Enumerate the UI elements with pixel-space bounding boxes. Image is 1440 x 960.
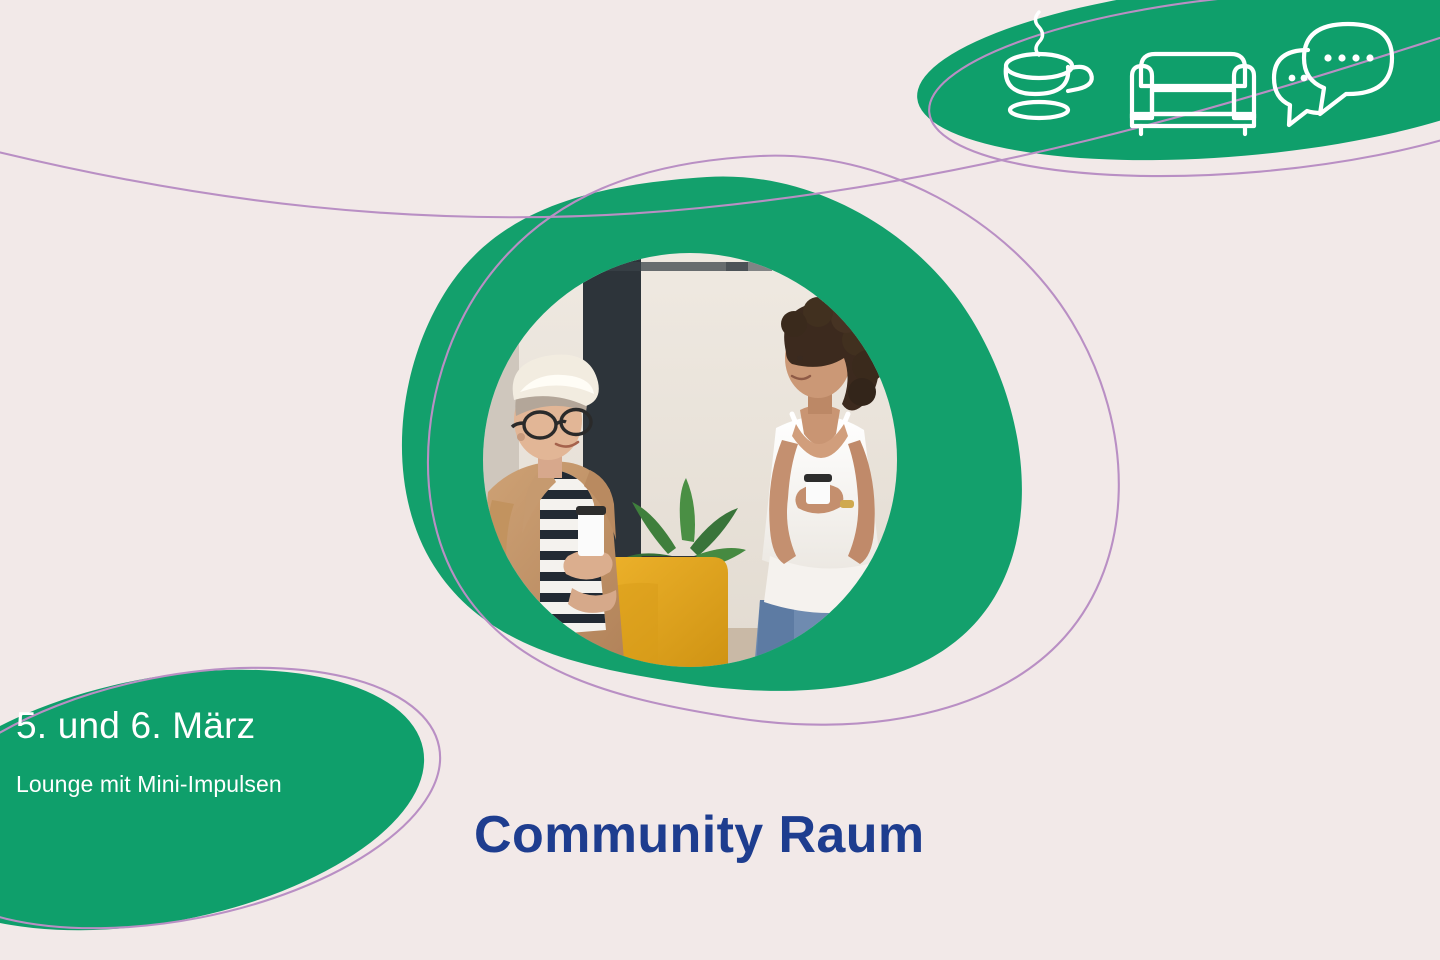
poster-canvas: 5. und 6. März Lounge mit Mini-Impulsen … — [0, 0, 1440, 960]
coffee-cup-icon — [1006, 12, 1092, 118]
page-title: Community Raum — [474, 808, 925, 863]
sofa-icon — [1132, 54, 1254, 134]
speech-bubbles-icon — [1274, 24, 1392, 125]
